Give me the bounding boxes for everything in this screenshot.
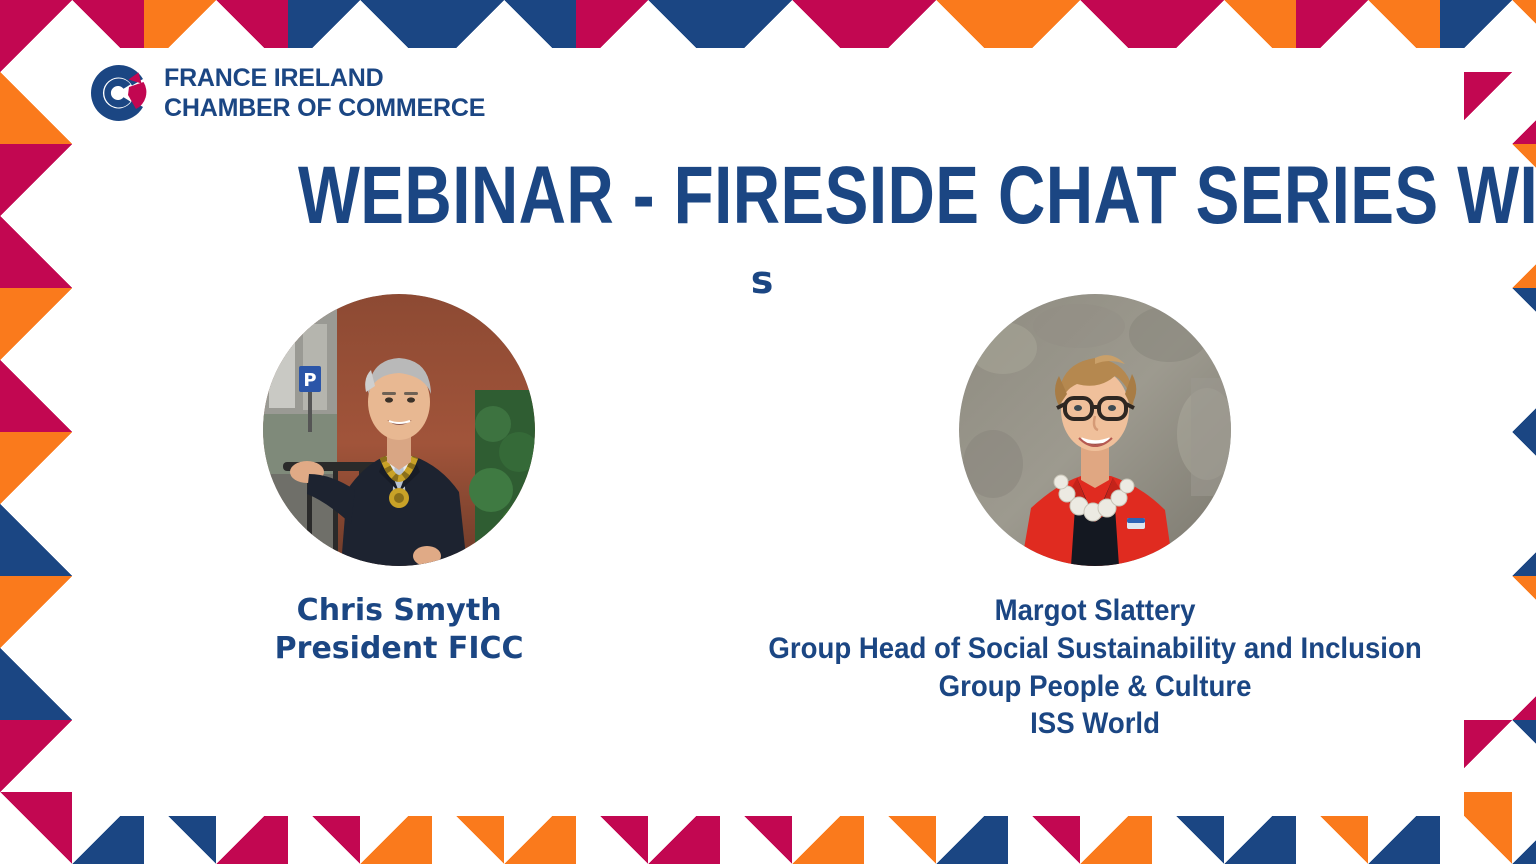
- speaker-role-1: Group Head of Social Sustainability and …: [768, 630, 1421, 668]
- page-title-main: WEBINAR - FIRESIDE CHAT SERIES WITH FICC…: [298, 156, 1536, 236]
- brand-logo: FRANCE IRELAND CHAMBER OF COMMERCE: [88, 62, 485, 124]
- ficc-logo-mark-icon: [88, 62, 150, 124]
- content-area: FRANCE IRELAND CHAMBER OF COMMERCE WEBIN…: [72, 48, 1464, 816]
- svg-text:P: P: [304, 370, 317, 391]
- speaker-role-2: Group People & Culture: [768, 668, 1421, 706]
- speaker-chris-smyth: P: [72, 294, 726, 743]
- poster-canvas: FRANCE IRELAND CHAMBER OF COMMERCE WEBIN…: [0, 0, 1536, 864]
- avatar-chris-smyth: P: [263, 294, 535, 566]
- speakers-row: P: [72, 294, 1464, 743]
- page-title: WEBINAR - FIRESIDE CHAT SERIES WITH FICC…: [72, 156, 1464, 280]
- speaker-company: ISS World: [768, 705, 1421, 743]
- avatar-margot-slattery: [959, 294, 1231, 566]
- speaker-margot-slattery: Margot Slattery Group Head of Social Sus…: [726, 294, 1464, 743]
- speaker-caption-margot-slattery: Margot Slattery Group Head of Social Sus…: [768, 592, 1421, 743]
- speaker-name: Chris Smyth: [275, 592, 524, 630]
- speaker-caption-chris-smyth: Chris Smyth President FICC: [275, 592, 524, 668]
- brand-logo-text: FRANCE IRELAND CHAMBER OF COMMERCE: [164, 63, 485, 124]
- speaker-role: President FICC: [275, 630, 524, 668]
- speaker-name: Margot Slattery: [768, 592, 1421, 630]
